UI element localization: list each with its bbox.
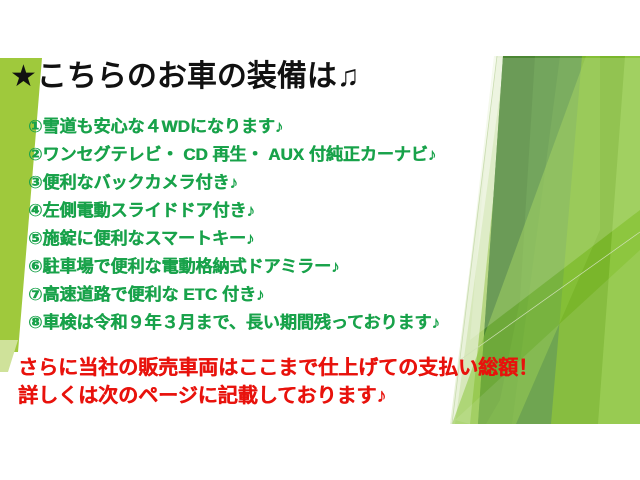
list-item: ⑥駐車場で便利な電動格納式ドアミラー♪: [28, 258, 588, 286]
list-item: ②ワンセグテレビ・ CD 再生・ AUX 付純正カーナビ♪: [28, 146, 588, 174]
page-title: ★こちらのお車の装備は♫: [10, 62, 359, 92]
list-item: ③便利なバックカメラ付き♪: [28, 174, 588, 202]
list-item: ⑧車検は令和９年３月まで、長い期間残っております♪: [28, 314, 588, 342]
polygon-left-accent-fade: [0, 340, 18, 372]
slide-canvas: ★こちらのお車の装備は♫ ①雪道も安心な４WDになります♪ ②ワンセグテレビ・ …: [0, 0, 640, 480]
list-item: ⑦高速道路で便利な ETC 付き♪: [28, 286, 588, 314]
list-item: ⑤施錠に便利なスマートキー♪: [28, 230, 588, 258]
equipment-feature-list: ①雪道も安心な４WDになります♪ ②ワンセグテレビ・ CD 再生・ AUX 付純…: [28, 118, 588, 342]
footer-line: さらに当社の販売車両はここまで仕上げての支払い総額！: [18, 355, 618, 383]
footer-note: さらに当社の販売車両はここまで仕上げての支払い総額！ 詳しくは次のページに記載し…: [18, 355, 618, 410]
footer-line: 詳しくは次のページに記載しております♪: [18, 383, 618, 411]
list-item: ④左側電動スライドドア付き♪: [28, 202, 588, 230]
list-item: ①雪道も安心な４WDになります♪: [28, 118, 588, 146]
